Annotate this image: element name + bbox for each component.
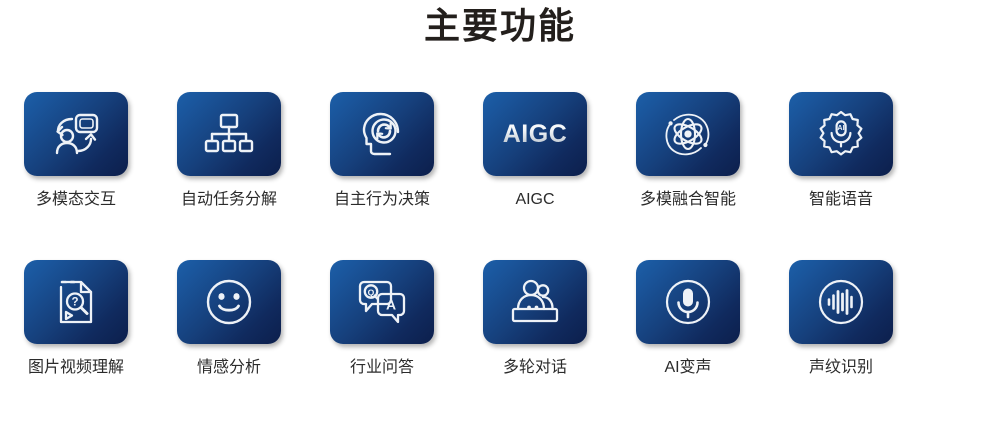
feature-label: 行业问答 (350, 358, 414, 378)
circled-microphone-icon (662, 276, 714, 328)
feature-item-voiceprint-recognition[interactable]: 声纹识别 (789, 260, 893, 378)
feature-tile[interactable] (177, 92, 281, 176)
feature-item-industry-qa[interactable]: Q A 行业问答 (330, 260, 434, 378)
feature-item-image-video-understanding[interactable]: ? 图片视频理解 (24, 260, 128, 378)
page-title: 主要功能 (0, 2, 1000, 50)
feature-item-multi-turn-dialogue[interactable]: 多轮对话 (483, 260, 587, 378)
feature-tile[interactable] (177, 260, 281, 344)
feature-item-smart-voice[interactable]: AI 智能语音 (789, 92, 893, 210)
feature-label: 多模融合智能 (640, 190, 736, 210)
feature-item-sentiment-analysis[interactable]: 情感分析 (177, 260, 281, 378)
feature-item-autonomous-decision[interactable]: 自主行为决策 (330, 92, 434, 210)
feature-tile[interactable] (483, 260, 587, 344)
feature-row: ? 图片视频理解 (0, 260, 1000, 378)
feature-label: 自动任务分解 (181, 190, 277, 210)
feature-tile[interactable]: AI (789, 92, 893, 176)
feature-label: 多模态交互 (36, 190, 116, 210)
aigc-text-icon: AIGC (503, 120, 568, 149)
atom-icon (661, 109, 715, 159)
people-table-dialogue-icon (508, 278, 562, 326)
person-screen-exchange-icon (50, 110, 102, 158)
feature-label: AIGC (515, 190, 554, 210)
gear-microphone-ai-icon: AI (815, 109, 867, 159)
svg-text:Q: Q (368, 287, 375, 297)
qa-speech-bubbles-icon: Q A (355, 278, 409, 326)
feature-tile[interactable]: AIGC (483, 92, 587, 176)
feature-label: AI变声 (664, 358, 711, 378)
feature-overview-page: 主要功能 (0, 0, 1000, 447)
feature-label: 图片视频理解 (28, 358, 124, 378)
feature-item-ai-voice-changer[interactable]: AI变声 (636, 260, 740, 378)
feature-tile[interactable] (330, 92, 434, 176)
feature-row: 多模态交互 (0, 92, 1000, 210)
feature-tile[interactable] (636, 92, 740, 176)
feature-tile[interactable]: Q A (330, 260, 434, 344)
feature-item-aigc[interactable]: AIGC AIGC (483, 92, 587, 210)
document-magnifier-question-icon: ? (54, 276, 98, 328)
feature-label: 智能语音 (809, 190, 873, 210)
feature-item-multimodal-fusion[interactable]: 多模融合智能 (636, 92, 740, 210)
feature-item-multimodal-interaction[interactable]: 多模态交互 (24, 92, 128, 210)
feature-label: 多轮对话 (503, 358, 567, 378)
svg-text:?: ? (71, 296, 78, 308)
svg-text:AI: AI (837, 123, 844, 132)
circled-waveform-icon (815, 276, 867, 328)
feature-grid: 多模态交互 (0, 92, 1000, 378)
smiley-face-icon (204, 277, 254, 327)
svg-text:A: A (386, 297, 396, 313)
feature-label: 自主行为决策 (334, 190, 430, 210)
hierarchy-tree-icon (204, 111, 254, 157)
head-cycle-icon (357, 110, 407, 158)
feature-label: 情感分析 (197, 358, 261, 378)
feature-tile[interactable] (789, 260, 893, 344)
feature-label: 声纹识别 (809, 358, 873, 378)
feature-tile[interactable] (24, 92, 128, 176)
feature-tile[interactable]: ? (24, 260, 128, 344)
feature-tile[interactable] (636, 260, 740, 344)
feature-item-auto-task-decomposition[interactable]: 自动任务分解 (177, 92, 281, 210)
